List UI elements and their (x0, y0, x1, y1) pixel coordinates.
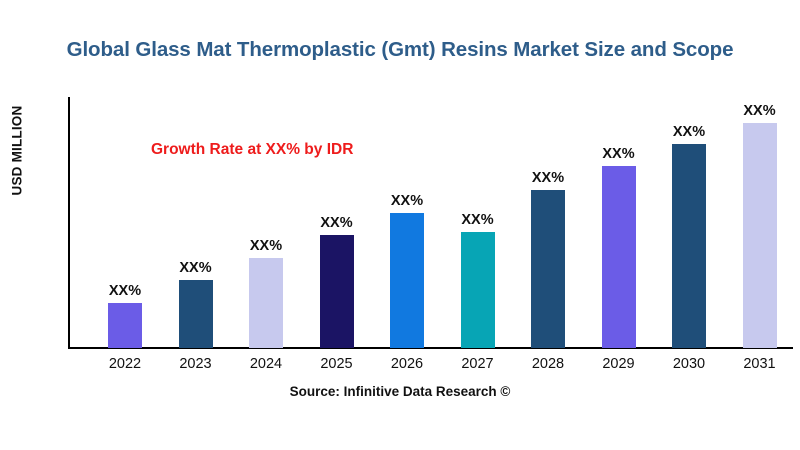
bar-2027[interactable] (461, 232, 495, 348)
bar-value-label-2028: XX% (532, 170, 564, 186)
bar-value-label-2025: XX% (320, 215, 352, 231)
bar-value-label-2030: XX% (673, 124, 705, 140)
x-tick-2022: 2022 (90, 356, 161, 372)
x-tick-2028: 2028 (513, 356, 584, 372)
bar-group-2025[interactable]: XX% (301, 97, 372, 348)
bar-value-label-2029: XX% (602, 146, 634, 162)
bar-group-2028[interactable]: XX% (513, 97, 584, 348)
x-tick-2026: 2026 (372, 356, 443, 372)
bar-group-2030[interactable]: XX% (654, 97, 725, 348)
bar-group-2026[interactable]: XX% (372, 97, 443, 348)
x-tick-2029: 2029 (583, 356, 654, 372)
bar-group-2022[interactable]: XX% (90, 97, 161, 348)
bar-2023[interactable] (179, 280, 213, 348)
bar-2031[interactable] (743, 123, 777, 348)
chart-title: Global Glass Mat Thermoplastic (Gmt) Res… (0, 38, 800, 62)
bar-2029[interactable] (602, 166, 636, 348)
bar-2026[interactable] (390, 213, 424, 348)
bar-group-2023[interactable]: XX% (160, 97, 231, 348)
plot-area: XX%XX%XX%XX%XX%XX%XX%XX%XX%XX% (68, 97, 793, 348)
bar-value-label-2023: XX% (179, 260, 211, 276)
bar-group-2031[interactable]: XX% (724, 97, 795, 348)
bar-value-label-2026: XX% (391, 193, 423, 209)
x-tick-2024: 2024 (231, 356, 302, 372)
bar-2022[interactable] (108, 303, 142, 348)
bar-group-2029[interactable]: XX% (583, 97, 654, 348)
bar-2028[interactable] (531, 190, 565, 348)
bar-2024[interactable] (249, 258, 283, 348)
y-axis-label: USD MILLION (10, 71, 25, 231)
bar-value-label-2024: XX% (250, 238, 282, 254)
bar-2030[interactable] (672, 144, 706, 348)
source-note: Source: Infinitive Data Research © (0, 384, 800, 399)
bar-group-2027[interactable]: XX% (442, 97, 513, 348)
bar-value-label-2027: XX% (461, 212, 493, 228)
x-tick-2025: 2025 (301, 356, 372, 372)
x-tick-2027: 2027 (442, 356, 513, 372)
bar-group-2024[interactable]: XX% (231, 97, 302, 348)
x-tick-2030: 2030 (654, 356, 725, 372)
x-tick-2023: 2023 (160, 356, 231, 372)
chart-container: Global Glass Mat Thermoplastic (Gmt) Res… (0, 0, 800, 450)
bar-value-label-2031: XX% (743, 103, 775, 119)
bar-value-label-2022: XX% (109, 283, 141, 299)
x-tick-2031: 2031 (724, 356, 795, 372)
bar-2025[interactable] (320, 235, 354, 348)
